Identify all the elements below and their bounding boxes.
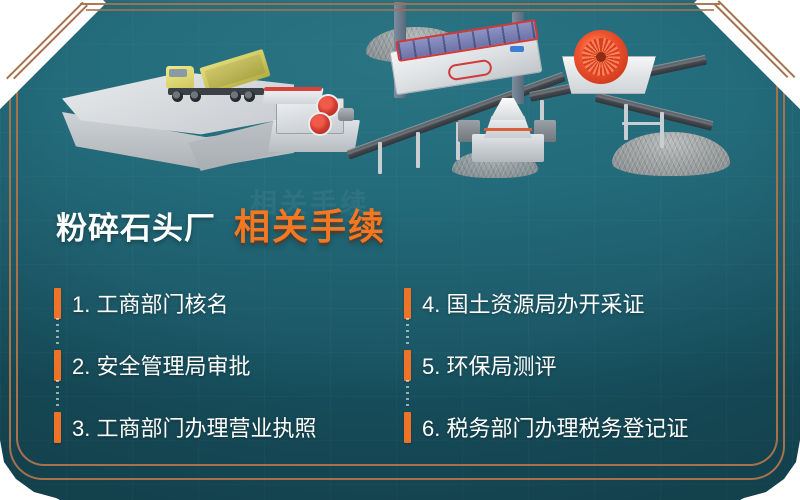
jaw-crusher-icon <box>268 86 360 152</box>
list-item-label: 3. 工商部门办理营业执照 <box>72 411 317 443</box>
belt-conveyor-icon <box>595 92 714 131</box>
vibrating-screen-icon <box>392 22 538 102</box>
list-item-label: 6. 税务部门办理税务登记证 <box>422 411 689 443</box>
plant-illustration <box>0 0 800 190</box>
list-item[interactable]: 2. 安全管理局审批 <box>54 334 404 396</box>
list-item[interactable]: 5. 环保局测评 <box>404 334 754 396</box>
list-item[interactable]: 6. 税务部门办理税务登记证 <box>404 396 754 458</box>
headline-highlight: 相关手续 <box>234 198 386 250</box>
list-item-label: 1. 工商部门核名 <box>72 287 229 319</box>
list-item-marker <box>54 412 61 443</box>
top-border-line <box>80 3 720 5</box>
list-item-label: 4. 国土资源局办开采证 <box>422 287 645 319</box>
list-item[interactable]: 4. 国土资源局办开采证 <box>404 272 754 334</box>
list-item-label: 5. 环保局测评 <box>422 349 557 381</box>
list-item-marker <box>404 412 411 443</box>
wheel-sand-washer-icon <box>556 28 660 94</box>
poster-stage: 相关手续 粉碎石头厂 相关手续 1. 工商部门核名 4. 国土资源局办开采证 2… <box>0 0 800 500</box>
headline: 粉碎石头厂 相关手续 <box>56 198 386 250</box>
list-item[interactable]: 3. 工商部门办理营业执照 <box>54 396 404 458</box>
teal-panel: 相关手续 粉碎石头厂 相关手续 1. 工商部门核名 4. 国土资源局办开采证 2… <box>0 0 800 500</box>
dump-truck-icon <box>164 58 268 106</box>
list-item-marker <box>54 350 61 381</box>
headline-primary: 粉碎石头厂 <box>56 203 216 248</box>
list-item-marker <box>404 350 411 381</box>
list-item-marker <box>54 288 61 319</box>
cone-crusher-icon <box>462 92 554 162</box>
list-item-marker <box>404 288 411 319</box>
list-item[interactable]: 1. 工商部门核名 <box>54 272 404 334</box>
aggregate-pile-icon <box>612 132 730 176</box>
list-item-label: 2. 安全管理局审批 <box>72 349 251 381</box>
top-border-line <box>86 9 714 11</box>
procedure-list: 1. 工商部门核名 4. 国土资源局办开采证 2. 安全管理局审批 5. 环保局… <box>54 272 754 458</box>
